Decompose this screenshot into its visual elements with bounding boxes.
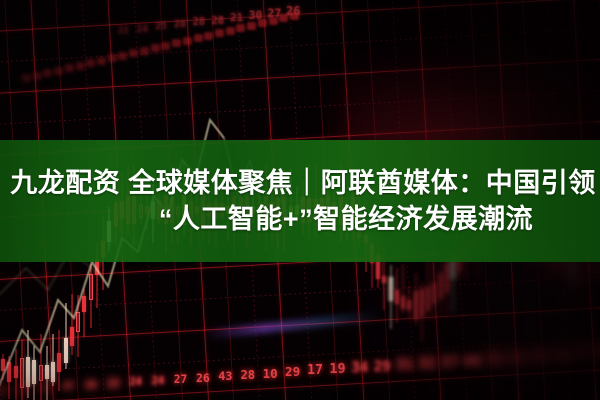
axis-tick-label: 24	[129, 376, 142, 388]
axis-tick-label: 28	[240, 368, 255, 382]
axis-tick-label: 37	[440, 353, 458, 371]
axis-tick-label: 33	[529, 347, 549, 366]
axis-tick-label: 23	[107, 379, 119, 390]
headline-banner: 九龙配资 全球媒体聚焦｜阿联酋媒体：中国引领 “人工智能+”智能经济发展潮流	[0, 140, 600, 262]
top-series-dot	[86, 59, 95, 67]
axis-tick-label: 31	[396, 357, 413, 373]
top-series-dot	[161, 42, 170, 50]
axis-tick-label: 30	[552, 345, 572, 365]
axis-tick-label: 17	[63, 381, 74, 392]
top-series-dot	[108, 54, 117, 62]
axis-tick-label: 27	[174, 373, 187, 386]
axis-tick-label: 43	[218, 369, 232, 383]
top-series-dot	[65, 64, 74, 72]
top-series-label: 24	[137, 24, 148, 35]
top-series-dot	[33, 72, 42, 80]
axis-tick-label: 21	[18, 385, 29, 395]
top-series-dot	[194, 34, 203, 42]
axis-tick-label: 24	[152, 374, 165, 387]
axis-tick-label: 29	[285, 365, 300, 380]
axis-tick-label: 19	[40, 382, 51, 393]
top-series-dot	[183, 37, 192, 45]
axis-tick-label: 17	[307, 363, 323, 378]
top-series-label: 22	[118, 26, 129, 36]
axis-tick-label: 32	[418, 355, 436, 372]
top-series-label: 28	[174, 19, 186, 30]
headline-line-2: “人工智能+”智能经济发展潮流	[0, 201, 600, 237]
axis-tick-label: 38	[485, 349, 504, 368]
axis-number-row: 1821191720232424272643281029171934293132…	[0, 336, 600, 400]
screenshot-root: 22242528282821302726 1821191720232424272…	[0, 0, 600, 400]
axis-tick-label: 19	[329, 361, 345, 377]
axis-tick-label: 35	[507, 348, 527, 367]
banner-text-block: 九龙配资 全球媒体聚焦｜阿联酋媒体：中国引领 “人工智能+”智能经济发展潮流	[0, 165, 600, 237]
axis-tick-label: 26	[596, 342, 600, 362]
top-series-label: 21	[230, 11, 243, 24]
top-series-label: 30	[249, 9, 263, 22]
top-series-dot	[247, 22, 256, 30]
top-series-dot	[22, 74, 31, 82]
top-series-dot	[236, 24, 245, 32]
top-series-dot	[97, 57, 106, 65]
top-series-dot	[226, 27, 235, 35]
axis-tick-label: 18	[0, 386, 6, 396]
axis-tick-label: 20	[85, 380, 97, 391]
top-series-label: 28	[211, 14, 224, 27]
top-series-dot	[129, 49, 138, 57]
axis-tick-label: 29	[374, 359, 391, 375]
top-series-label: 26	[286, 4, 300, 18]
axis-tick-label: 40	[463, 352, 482, 370]
top-series-label: 28	[193, 16, 205, 28]
axis-tick-label: 34	[352, 360, 369, 376]
top-series-dot	[54, 67, 63, 75]
top-series-dot	[215, 29, 224, 37]
top-series-dot	[76, 62, 85, 70]
top-series-dot	[172, 39, 181, 47]
axis-tick-label: 26	[196, 371, 210, 385]
top-series-dot	[151, 44, 160, 52]
top-series-dot	[43, 69, 52, 77]
top-series-dot	[140, 47, 149, 55]
axis-tick-label: 28	[574, 343, 595, 363]
top-series-dot	[118, 52, 127, 60]
axis-tick-label: 10	[263, 366, 278, 381]
headline-line-1: 九龙配资 全球媒体聚焦｜阿联酋媒体：中国引领	[0, 165, 600, 201]
top-series-dot	[204, 32, 213, 40]
top-series-label: 27	[267, 6, 281, 20]
top-series-label: 25	[155, 21, 167, 32]
